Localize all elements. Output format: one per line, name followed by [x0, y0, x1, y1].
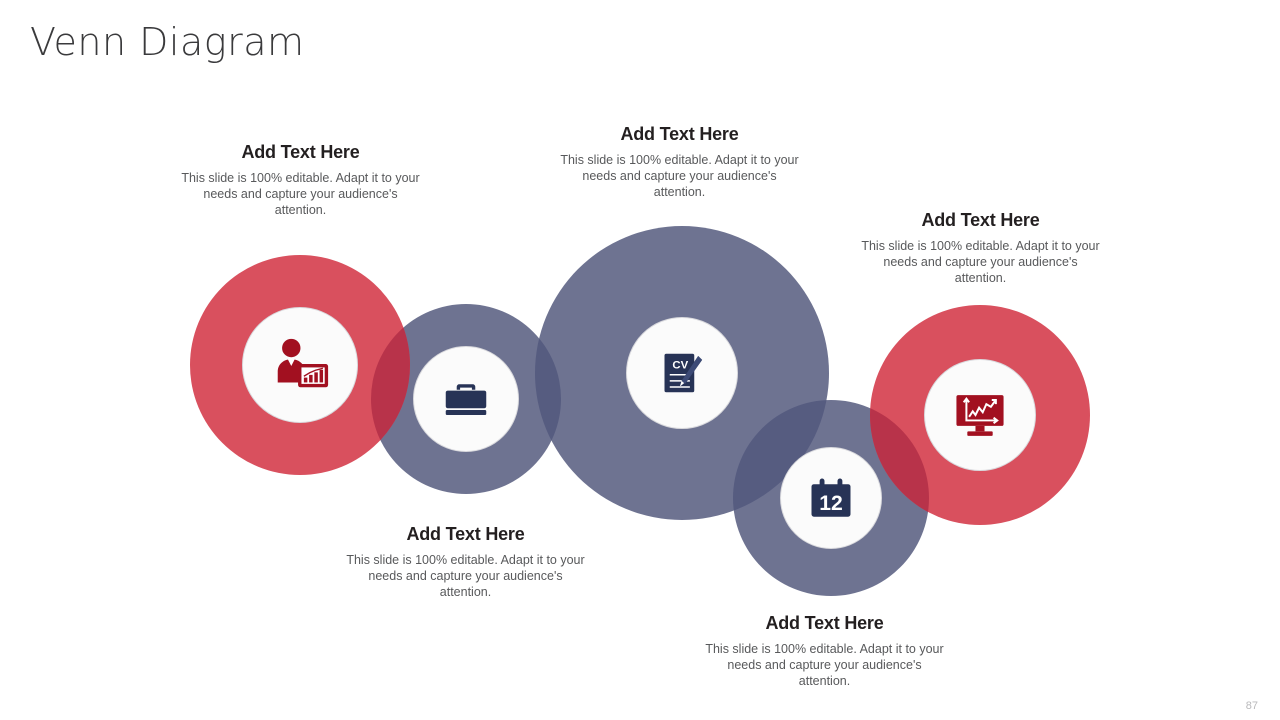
text-block-1-body: This slide is 100% editable. Adapt it to… — [178, 170, 423, 218]
text-block-2: Add Text Here This slide is 100% editabl… — [343, 524, 588, 600]
text-block-4-body: This slide is 100% editable. Adapt it to… — [702, 641, 947, 689]
monitor-trend-icon — [951, 386, 1009, 444]
calendar-12-icon: 12 — [805, 472, 857, 524]
svg-text:12: 12 — [819, 492, 842, 515]
page-title: Venn Diagram — [30, 20, 305, 64]
text-block-3-body: This slide is 100% editable. Adapt it to… — [557, 152, 802, 200]
icon-hub-2[interactable] — [413, 346, 519, 452]
icon-hub-4[interactable]: 12 — [780, 447, 882, 549]
text-block-1-heading: Add Text Here — [178, 142, 423, 163]
text-block-1: Add Text Here This slide is 100% editabl… — [178, 142, 423, 218]
briefcase-icon — [439, 372, 493, 426]
slide-canvas: Venn Diagram — [0, 0, 1280, 720]
icon-hub-1[interactable] — [242, 307, 358, 423]
text-block-3: Add Text Here This slide is 100% editabl… — [557, 124, 802, 200]
text-block-5-body: This slide is 100% editable. Adapt it to… — [858, 238, 1103, 286]
text-block-5-heading: Add Text Here — [858, 210, 1103, 231]
svg-text:CV: CV — [672, 360, 688, 372]
text-block-3-heading: Add Text Here — [557, 124, 802, 145]
text-block-4: Add Text Here This slide is 100% editabl… — [702, 613, 947, 689]
icon-hub-3[interactable]: CV — [626, 317, 738, 429]
icon-hub-5[interactable] — [924, 359, 1036, 471]
text-block-2-body: This slide is 100% editable. Adapt it to… — [343, 552, 588, 600]
page-number: 87 — [1246, 700, 1258, 712]
businessman-chart-icon — [269, 334, 331, 396]
cv-document-icon: CV — [654, 345, 710, 401]
text-block-4-heading: Add Text Here — [702, 613, 947, 634]
text-block-5: Add Text Here This slide is 100% editabl… — [858, 210, 1103, 286]
text-block-2-heading: Add Text Here — [343, 524, 588, 545]
